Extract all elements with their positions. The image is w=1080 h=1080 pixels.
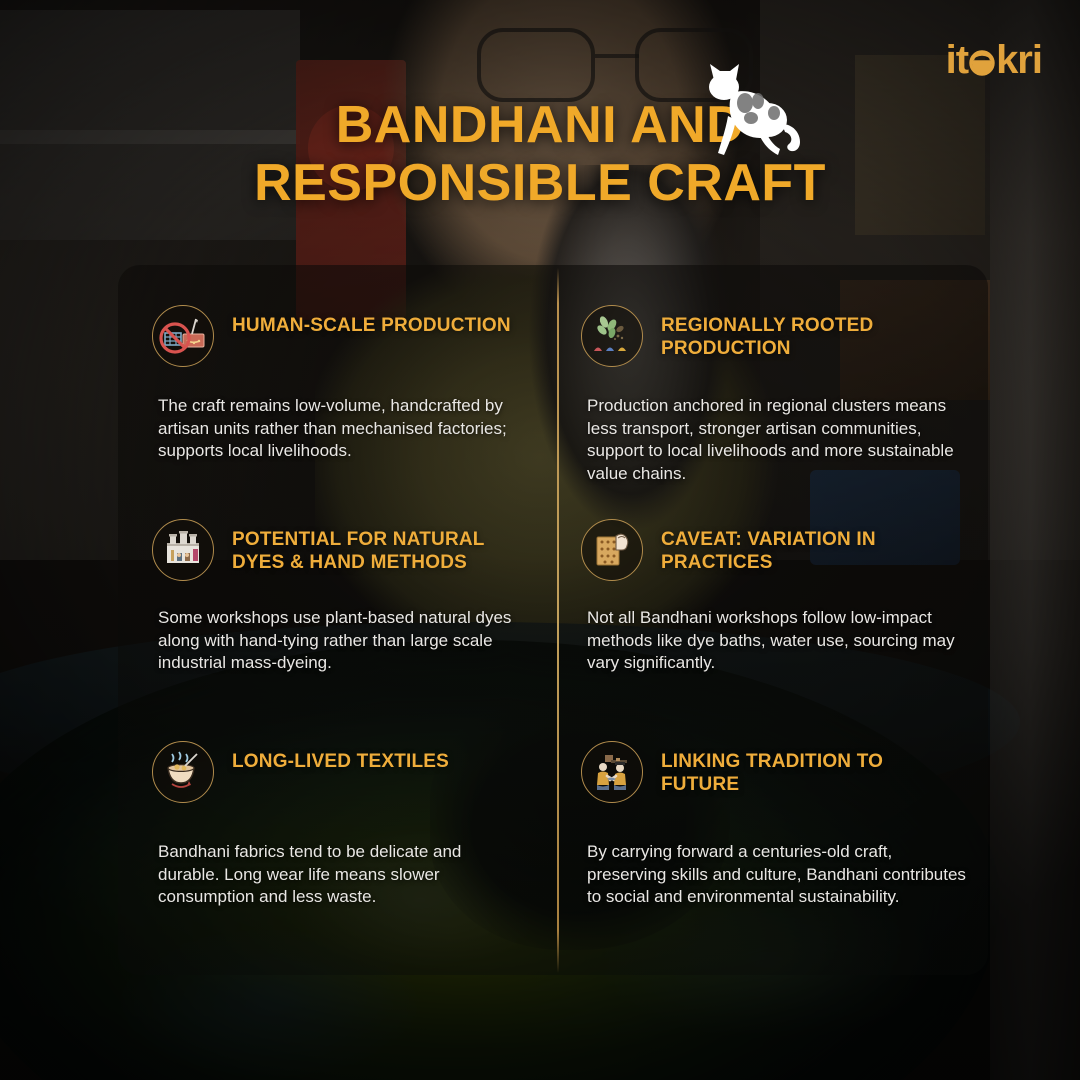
card-header: CAVEAT: VARIATION IN PRACTICES bbox=[581, 519, 966, 581]
leaves-and-pigment-mounds-icon bbox=[581, 305, 643, 367]
card-body: Not all Bandhani workshops follow low-im… bbox=[587, 607, 966, 675]
card-body: Bandhani fabrics tend to be delicate and… bbox=[158, 841, 527, 909]
card-body: By carrying forward a centuries-old craf… bbox=[587, 841, 966, 909]
card-header: POTENTIAL FOR NATURAL DYES & HAND METHOD… bbox=[152, 519, 527, 581]
card-body: Production anchored in regional clusters… bbox=[587, 395, 966, 485]
card-title: LONG-LIVED TEXTILES bbox=[232, 741, 449, 773]
hand-holding-patterned-fabric-icon bbox=[581, 519, 643, 581]
card-title: HUMAN-SCALE PRODUCTION bbox=[232, 305, 511, 337]
card-caveat-variation-in-practices[interactable]: CAVEAT: VARIATION IN PRACTICES Not all B… bbox=[581, 519, 966, 727]
card-body: The craft remains low-volume, handcrafte… bbox=[158, 395, 527, 463]
card-potential-for-natural-dyes[interactable]: POTENTIAL FOR NATURAL DYES & HAND METHOD… bbox=[152, 519, 527, 727]
artisan-workshop-building-icon bbox=[152, 519, 214, 581]
column-divider bbox=[557, 268, 559, 973]
card-regionally-rooted-production[interactable]: REGIONALLY ROOTED PRODUCTION Production … bbox=[581, 305, 966, 505]
page-title-line-1: BANDHANI AND bbox=[336, 96, 745, 154]
logo-basket-icon bbox=[969, 43, 995, 77]
right-column: REGIONALLY ROOTED PRODUCTION Production … bbox=[553, 265, 988, 975]
logo-text-part-1: it bbox=[946, 40, 968, 80]
page-title: BANDHANI AND RESPONSIBLE CRAFT bbox=[0, 96, 1080, 212]
logo-text-part-2: kri bbox=[996, 40, 1042, 80]
cat-silhouette-icon bbox=[688, 58, 808, 163]
card-title: POTENTIAL FOR NATURAL DYES & HAND METHOD… bbox=[232, 519, 527, 574]
page-title-line-2: RESPONSIBLE CRAFT bbox=[0, 154, 1080, 212]
card-human-scale-production[interactable]: HUMAN-SCALE PRODUCTION The craft remains… bbox=[152, 305, 527, 505]
card-header: HUMAN-SCALE PRODUCTION bbox=[152, 305, 527, 367]
card-header: REGIONALLY ROOTED PRODUCTION bbox=[581, 305, 966, 367]
two-artisans-working-icon bbox=[581, 741, 643, 803]
card-title: LINKING TRADITION TO FUTURE bbox=[661, 741, 966, 796]
infographic-poster: it kri BANDHANI AND RESPONSIBLE CRAFT bbox=[0, 0, 1080, 1080]
card-linking-tradition-to-future[interactable]: LINKING TRADITION TO FUTURE By carrying … bbox=[581, 741, 966, 941]
steaming-dye-pot-icon bbox=[152, 741, 214, 803]
card-title: REGIONALLY ROOTED PRODUCTION bbox=[661, 305, 966, 360]
content-panel: HUMAN-SCALE PRODUCTION The craft remains… bbox=[118, 265, 988, 975]
card-header: LONG-LIVED TEXTILES bbox=[152, 741, 527, 803]
left-column: HUMAN-SCALE PRODUCTION The craft remains… bbox=[118, 265, 553, 975]
card-body: Some workshops use plant-based natural d… bbox=[158, 607, 527, 675]
no-factory-machine-icon bbox=[152, 305, 214, 367]
card-title: CAVEAT: VARIATION IN PRACTICES bbox=[661, 519, 966, 574]
card-header: LINKING TRADITION TO FUTURE bbox=[581, 741, 966, 803]
card-long-lived-textiles[interactable]: LONG-LIVED TEXTILES Bandhani fabrics ten… bbox=[152, 741, 527, 941]
itokri-logo[interactable]: it kri bbox=[946, 40, 1042, 80]
